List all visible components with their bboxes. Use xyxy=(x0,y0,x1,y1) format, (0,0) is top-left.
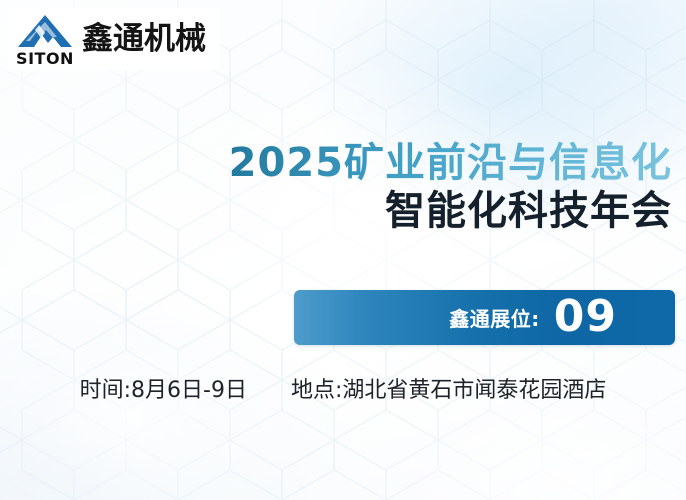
event-time: 时间:8月6日-9日 xyxy=(80,372,247,404)
company-logo: SITON 鑫通机械 xyxy=(8,8,220,70)
event-info-row: 时间:8月6日-9日 地点:湖北省黄石市闻泰花园酒店 xyxy=(0,372,686,404)
hexagon-pattern-layer xyxy=(0,0,686,500)
booth-label: 鑫通展位: xyxy=(449,303,540,332)
company-logo-chinese-name: 鑫通机械 xyxy=(82,24,206,55)
svg-text:SITON: SITON xyxy=(16,49,74,67)
poster-canvas: SITON 鑫通机械 2025矿业前沿与信息化 智能化科技年会 鑫通展位: 09… xyxy=(0,0,686,500)
title-line-1: 2025矿业前沿与信息化 xyxy=(0,140,672,186)
event-place: 地点:湖北省黄石市闻泰花园酒店 xyxy=(291,372,606,404)
booth-number: 09 xyxy=(554,295,617,339)
poster-title: 2025矿业前沿与信息化 智能化科技年会 xyxy=(0,140,672,235)
booth-banner: 鑫通展位: 09 xyxy=(294,290,675,345)
title-line-2: 智能化科技年会 xyxy=(0,188,672,234)
siton-mountain-logo-icon: SITON xyxy=(12,11,78,67)
